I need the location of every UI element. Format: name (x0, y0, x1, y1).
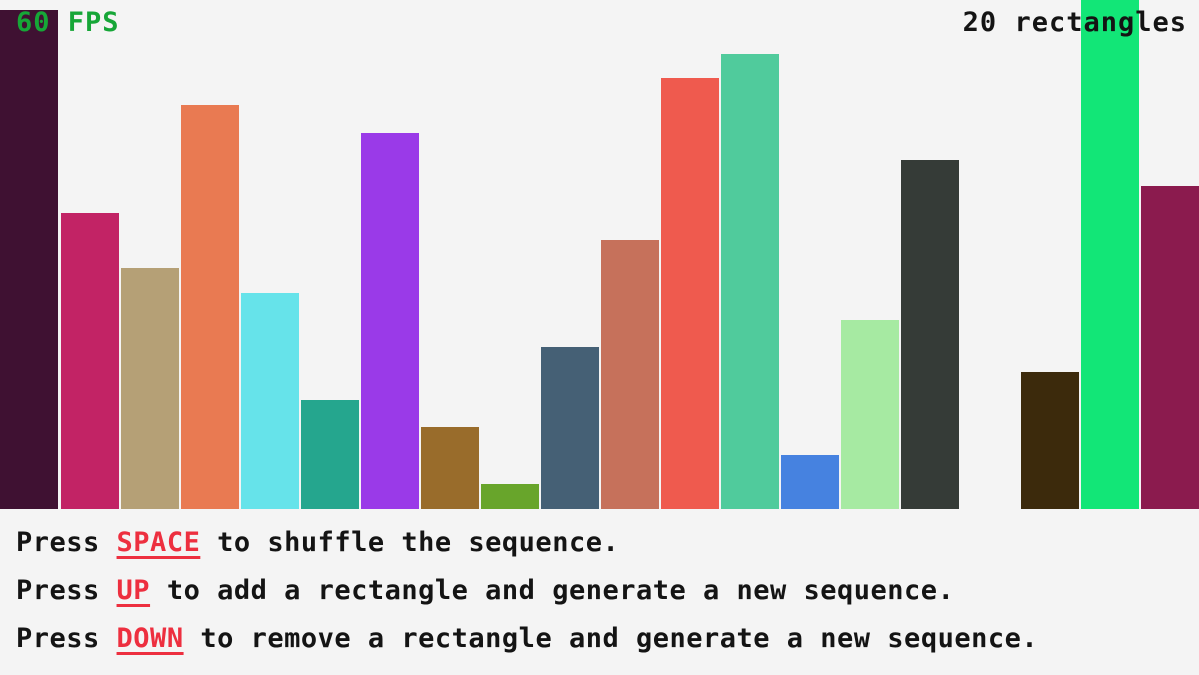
bar-rectangle (721, 54, 779, 509)
key-up[interactable]: UP (117, 575, 151, 606)
rectangle-canvas[interactable] (0, 0, 1199, 509)
bar-rectangle (0, 10, 58, 509)
instruction-suffix: to remove a rectangle and generate a new… (184, 623, 1039, 654)
rectangle-count-label: 20 rectangles (963, 7, 1187, 38)
bar-rectangle (1081, 0, 1139, 509)
bar-rectangle (601, 240, 659, 509)
bar-rectangle (421, 427, 479, 509)
bar-rectangle (1141, 186, 1199, 509)
instruction-line-shuffle: Press SPACE to shuffle the sequence. (16, 527, 619, 558)
bar-rectangle (481, 484, 539, 509)
instruction-prefix: Press (16, 527, 117, 558)
bar-rectangle (661, 78, 719, 509)
instruction-line-remove: Press DOWN to remove a rectangle and gen… (16, 623, 1038, 654)
instruction-suffix: to add a rectangle and generate a new se… (150, 575, 954, 606)
instruction-suffix: to shuffle the sequence. (200, 527, 619, 558)
bar-rectangle (181, 105, 239, 509)
bar-rectangle (301, 400, 359, 509)
fps-counter: 60 FPS (16, 7, 120, 38)
bar-rectangle (841, 320, 899, 509)
bar-rectangle (901, 160, 959, 509)
bar-rectangle (121, 268, 179, 509)
key-down[interactable]: DOWN (117, 623, 184, 654)
app-root: 60 FPS 20 rectangles Press SPACE to shuf… (0, 0, 1199, 675)
instructions-panel: Press SPACE to shuffle the sequence. Pre… (0, 509, 1199, 675)
instruction-prefix: Press (16, 623, 117, 654)
key-space[interactable]: SPACE (117, 527, 201, 558)
bar-rectangle (781, 455, 839, 509)
bar-rectangle (541, 347, 599, 509)
instruction-prefix: Press (16, 575, 117, 606)
bar-rectangle (61, 213, 119, 509)
instruction-line-add: Press UP to add a rectangle and generate… (16, 575, 954, 606)
bar-rectangle (1021, 372, 1079, 509)
bar-rectangle (361, 133, 419, 509)
bar-rectangle (241, 293, 299, 509)
